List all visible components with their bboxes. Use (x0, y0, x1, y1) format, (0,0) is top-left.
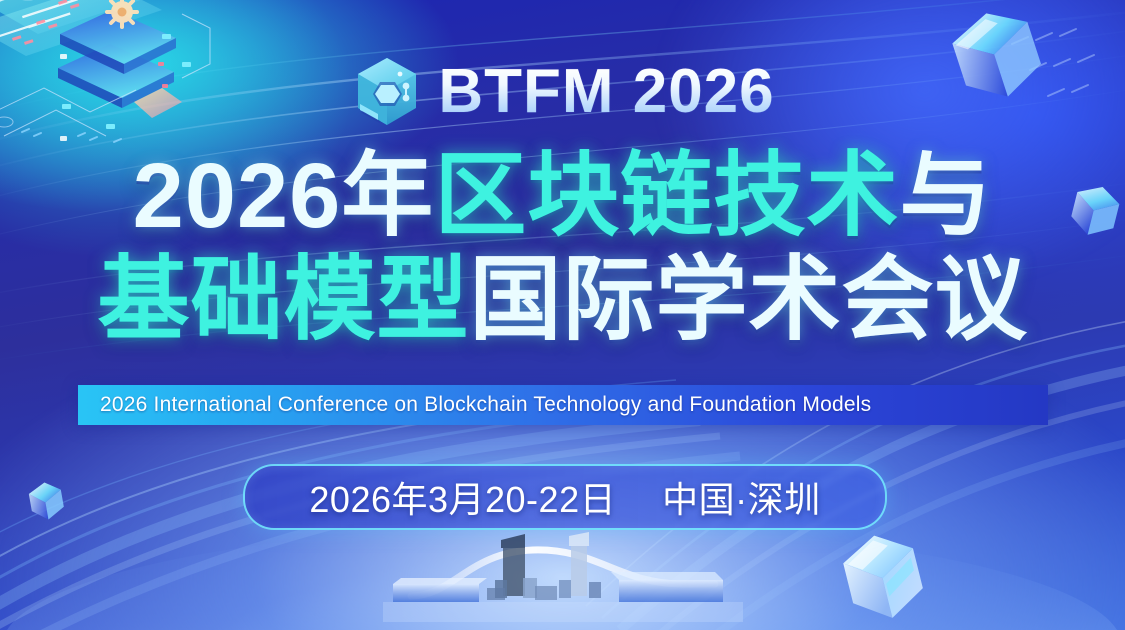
brand-logo-row: BTFM 2026 (0, 52, 1125, 132)
english-subtitle-bar: 2026 International Conference on Blockch… (78, 385, 1048, 425)
hexagon-cube-logo-icon (350, 52, 424, 132)
conference-location: 中国·深圳 (662, 471, 821, 523)
shenzhen-skyline-silhouette (383, 522, 743, 622)
crystal-cube-bottom-right-icon (828, 520, 936, 630)
conference-banner: BTFM 2026 2026年区块链技术与 基础模型国际学术会议 2026 In… (0, 0, 1125, 630)
english-subtitle-text: 2026 International Conference on Blockch… (78, 393, 871, 417)
conference-date: 2026年3月20-22日 (309, 471, 616, 523)
title-seg-blockchain: 区块链技术 (434, 145, 899, 247)
date-location-pill: 2026年3月20-22日 中国·深圳 (243, 464, 887, 530)
title-line-1: 2026年区块链技术与 (0, 150, 1125, 242)
brand-title: BTFM 2026 (438, 61, 774, 123)
crystal-cube-bottom-left-icon (14, 468, 76, 532)
title-seg-year: 2026年 (133, 145, 435, 247)
title-seg-and: 与 (899, 145, 992, 247)
title-line-2: 基础模型国际学术会议 (0, 254, 1125, 346)
title-seg-foundation-model: 基础模型 (97, 249, 469, 351)
title-seg-conference: 国际学术会议 (470, 249, 1028, 351)
